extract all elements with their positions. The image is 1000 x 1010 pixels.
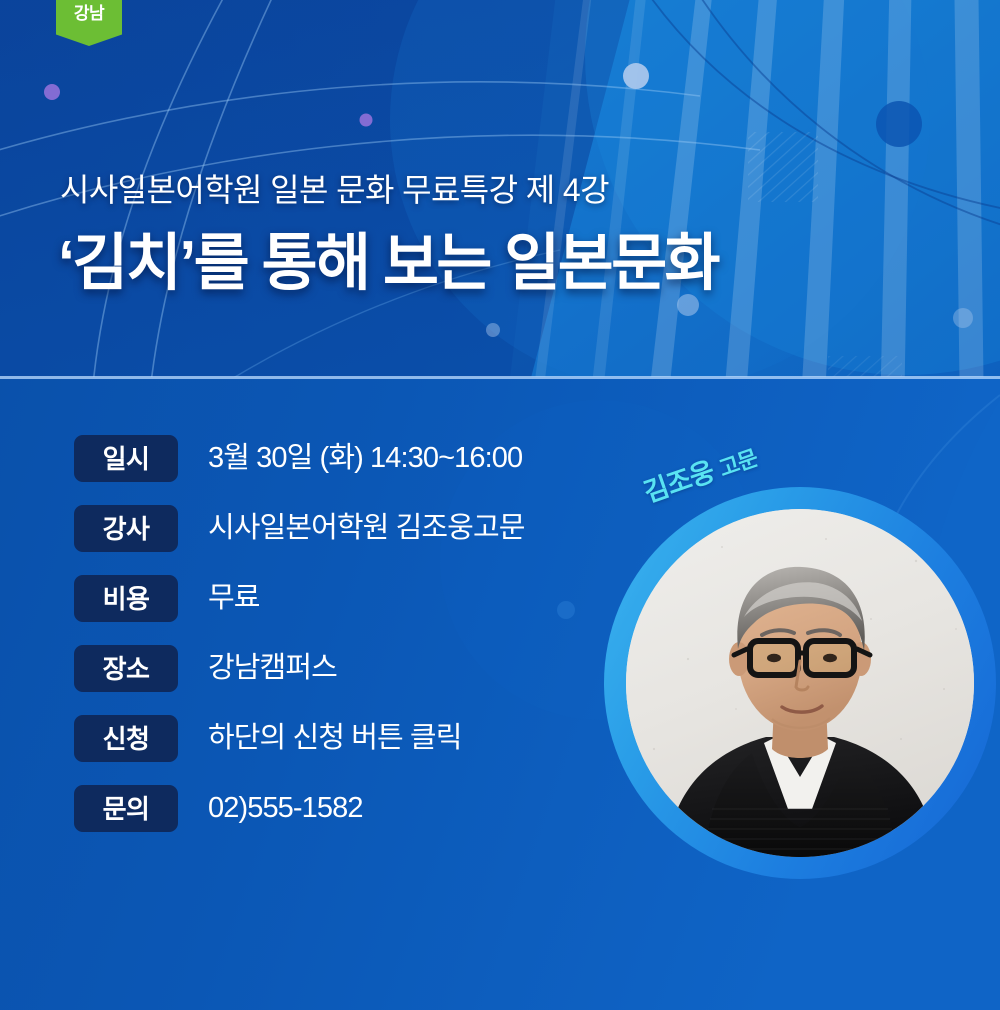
detail-label-pill: 신청 — [74, 715, 178, 762]
detail-label: 강사 — [103, 516, 150, 542]
detail-label-pill: 일시 — [74, 435, 178, 482]
detail-label: 문의 — [103, 796, 150, 822]
section-divider — [0, 376, 1000, 379]
detail-row-instructor: 강사 시사일본어학원 김조웅고문 — [74, 505, 525, 552]
event-title: ‘김치’를 통해 보는 일본문화 — [58, 212, 718, 302]
detail-value: 강남캠퍼스 — [208, 654, 337, 683]
detail-row-application: 신청 하단의 신청 버튼 클릭 — [74, 715, 525, 762]
detail-label-pill: 문의 — [74, 785, 178, 832]
detail-label: 장소 — [103, 656, 150, 682]
gangnam-badge-label: 강남 — [74, 5, 104, 22]
detail-label-pill: 강사 — [74, 505, 178, 552]
detail-value: 무료 — [208, 584, 260, 613]
detail-value: 3월 30일 (화) 14:30~16:00 — [208, 444, 522, 473]
detail-label-pill: 비용 — [74, 575, 178, 622]
instructor-photo — [626, 509, 974, 857]
detail-value: 시사일본어학원 김조웅고문 — [208, 514, 525, 543]
detail-row-cost: 비용 무료 — [74, 575, 525, 622]
detail-row-contact: 문의 02)555-1582 — [74, 785, 525, 832]
detail-label-pill: 장소 — [74, 645, 178, 692]
event-details-list: 일시 3월 30일 (화) 14:30~16:00 강사 시사일본어학원 김조웅… — [74, 435, 525, 855]
detail-value: 02)555-1582 — [208, 794, 363, 823]
detail-row-venue: 장소 강남캠퍼스 — [74, 645, 525, 692]
detail-label: 신청 — [103, 726, 150, 752]
detail-row-date: 일시 3월 30일 (화) 14:30~16:00 — [74, 435, 525, 482]
detail-value: 하단의 신청 버튼 클릭 — [208, 724, 462, 753]
instructor-portrait: 김조웅 고문 — [604, 487, 996, 879]
event-poster: 강남 시사일본어학원 일본 문화 무료특강 제 4강 ‘김치’를 통해 보는 일… — [0, 0, 1000, 1010]
event-subtitle: 시사일본어학원 일본 문화 무료특강 제 4강 — [60, 165, 609, 211]
detail-label: 비용 — [103, 586, 150, 612]
detail-label: 일시 — [103, 446, 150, 472]
